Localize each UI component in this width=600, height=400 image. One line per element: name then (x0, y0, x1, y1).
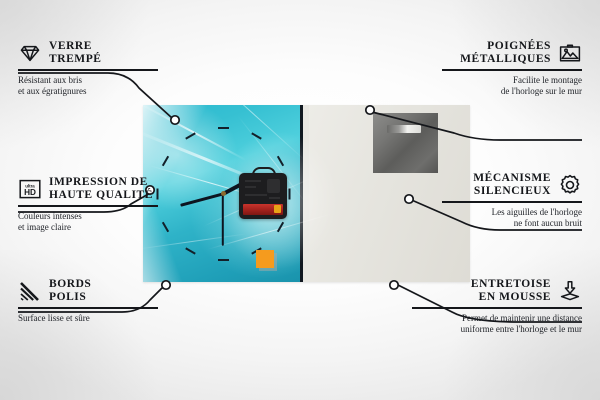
picture-frame-icon (558, 41, 582, 65)
battery-terminal (274, 205, 281, 213)
desc-line2: ne font aucun bruit (442, 218, 582, 229)
foam-spacer (256, 250, 274, 268)
desc-line1: Couleurs intenses (18, 211, 158, 222)
feature-description: Surface lisse et sûre (18, 313, 158, 324)
feature-heading: ultra HD IMPRESSION DE HAUTE QUALITÉ (18, 176, 158, 202)
divider (442, 201, 582, 203)
clock-tick (288, 188, 290, 199)
desc-line2: de l'horloge sur le mur (442, 86, 582, 97)
desc-line1: Résistant aux bris (18, 75, 158, 86)
ultra-hd-icon: ultra HD (18, 177, 42, 201)
feature-description: Résistant aux bris et aux égratignures (18, 75, 158, 97)
feature-heading: VERRE TREMPÉ (18, 40, 158, 66)
feature-title-line1: MÉCANISME (473, 172, 551, 185)
desc-line1: Permet de maintenir une distance (412, 313, 582, 324)
clock-tick (218, 259, 229, 261)
divider (442, 69, 582, 71)
feature-description: Facilite le montage de l'horloge sur le … (442, 75, 582, 97)
desc-line1: Les aiguilles de l'horloge (442, 207, 582, 218)
feature-title-line2: HAUTE QUALITÉ (49, 189, 153, 202)
feature-title-line2: POLIS (49, 291, 91, 304)
feature-entretoise-en-mousse: ENTRETOISE EN MOUSSE Permet de maintenir… (412, 278, 582, 335)
desc-line2: uniforme entre l'horloge et le mur (412, 324, 582, 335)
divider (18, 307, 158, 309)
desc-line2: et image claire (18, 222, 158, 233)
divider (412, 307, 582, 309)
hanger-slot (387, 125, 421, 133)
desc-line2: et aux égratignures (18, 86, 158, 97)
feature-heading: BORDS POLIS (18, 278, 158, 304)
clock-center-cap (221, 191, 226, 196)
battery (243, 204, 283, 215)
mechanism-hook (252, 167, 276, 179)
clock-second-hand (222, 193, 224, 245)
feature-title-line2: MÉTALLIQUES (460, 53, 551, 66)
feature-title-line2: EN MOUSSE (471, 291, 551, 304)
divider (18, 69, 158, 71)
divider (18, 205, 158, 207)
feature-title-line2: TREMPÉ (49, 53, 102, 66)
polished-edges-icon (18, 279, 42, 303)
infographic-canvas: VERRE TREMPÉ Résistant aux bris et aux é… (0, 0, 600, 400)
foam-spacer-icon (558, 279, 582, 303)
clock-mechanism (239, 173, 287, 219)
feature-mecanisme-silencieux: MÉCANISME SILENCIEUX Les aiguilles de l'… (442, 172, 582, 229)
feature-title-line1: POIGNÉES (460, 40, 551, 53)
feature-description: Permet de maintenir une distance uniform… (412, 313, 582, 335)
feature-title-line1: BORDS (49, 278, 91, 291)
clock-tick (218, 127, 229, 129)
feature-impression-haute-qualite: ultra HD IMPRESSION DE HAUTE QUALITÉ Cou… (18, 176, 158, 233)
feature-heading: MÉCANISME SILENCIEUX (442, 172, 582, 198)
diamond-icon (18, 41, 42, 65)
feature-title-line2: SILENCIEUX (473, 185, 551, 198)
gear-icon (558, 173, 582, 197)
feature-description: Couleurs intenses et image claire (18, 211, 158, 233)
desc-line1: Surface lisse et sûre (18, 313, 158, 324)
feature-heading: POIGNÉES MÉTALLIQUES (442, 40, 582, 66)
feature-title-line1: IMPRESSION DE (49, 176, 153, 189)
feature-bords-polis: BORDS POLIS Surface lisse et sûre (18, 278, 158, 324)
hanger-plate (373, 113, 438, 173)
clock-tick (185, 247, 196, 254)
svg-text:HD: HD (24, 188, 36, 197)
clock-tick (162, 221, 169, 232)
feature-heading: ENTRETOISE EN MOUSSE (412, 278, 582, 304)
product-photo (143, 105, 470, 282)
feature-title-line1: VERRE (49, 40, 102, 53)
feature-verre-trempe: VERRE TREMPÉ Résistant aux bris et aux é… (18, 40, 158, 97)
feature-title-line1: ENTRETOISE (471, 278, 551, 291)
feature-description: Les aiguilles de l'horloge ne font aucun… (442, 207, 582, 229)
feature-poignees-metalliques: POIGNÉES MÉTALLIQUES Facilite le montage… (442, 40, 582, 97)
desc-line1: Facilite le montage (442, 75, 582, 86)
